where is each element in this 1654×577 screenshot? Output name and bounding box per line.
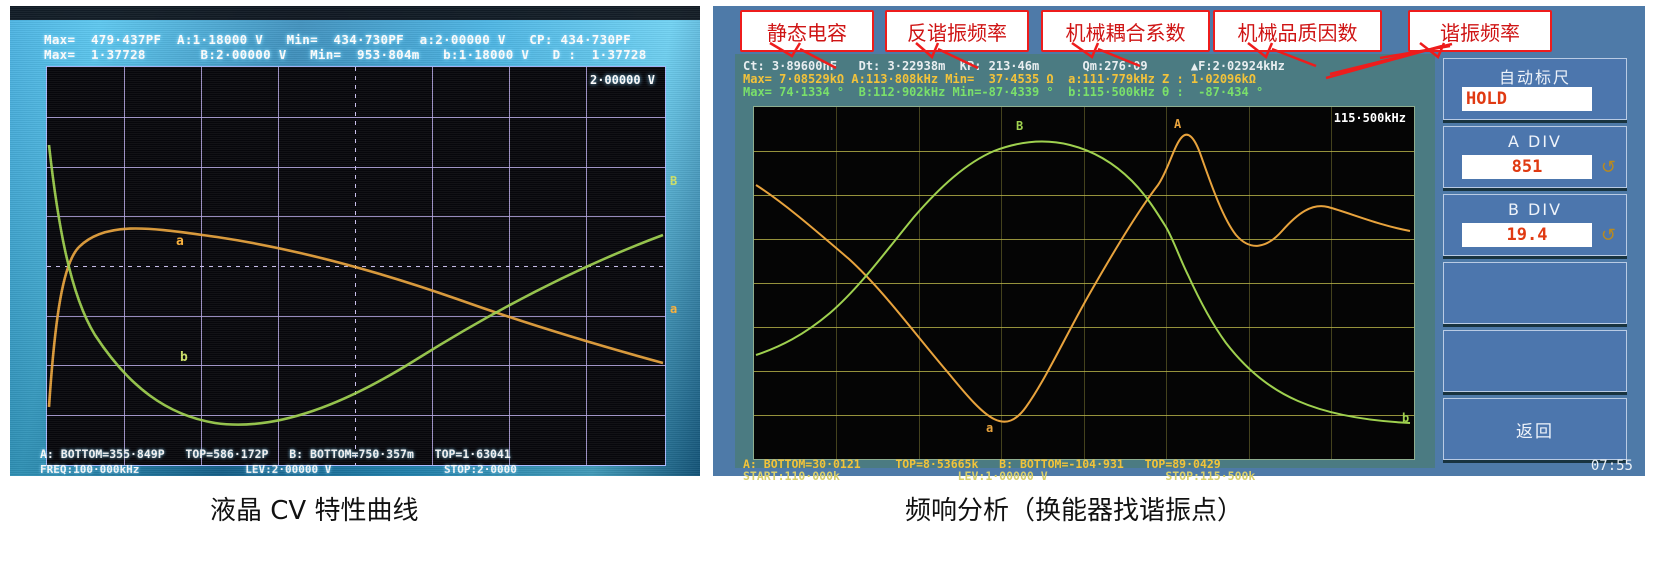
annotation-resonance-frequency-label: 谐振频率 [1440, 17, 1520, 46]
left-readout-line-1: Max= 479·437PF A:1·18000 V Min= 434·730P… [44, 32, 684, 47]
softkey-b-div-label: B DIV [1444, 200, 1626, 219]
analyzer-chassis: Ct: 3·89600nF Dt: 3·22938m KP: 213·46m Q… [713, 6, 1645, 476]
left-footer-line-1: A: BOTTOM=355·849P TOP=586·172P B: BOTTO… [40, 447, 690, 461]
softkey-back[interactable]: 返回 [1443, 398, 1627, 460]
annotation-mechanical-q-label: 机械品质因数 [1238, 17, 1358, 46]
softkey-auto-scale-label: 自动标尺 [1444, 64, 1626, 88]
analyzer-plot-area: 115·500kHz B A a b [753, 106, 1415, 460]
analyzer-marker-b-right: b [1402, 411, 1409, 425]
left-plot-area: 2·00000 V [46, 66, 666, 466]
right-analyzer-screen: Ct: 3·89600nF Dt: 3·22938m KP: 213·46m Q… [713, 6, 1645, 476]
annotation-coupling-coefficient-label: 机械耦合系数 [1066, 17, 1186, 46]
annotation-coupling-coefficient: 机械耦合系数 [1041, 10, 1210, 52]
annotation-resonance-frequency: 谐振频率 [1408, 10, 1552, 52]
softkey-empty-2[interactable] [1443, 330, 1627, 392]
softkey-a-div-value[interactable]: 851 [1462, 155, 1592, 179]
rotary-knob-icon[interactable]: ↺ [1601, 225, 1616, 246]
annotation-static-capacitance-label: 静态电容 [767, 17, 847, 46]
softkey-empty-1[interactable] [1443, 262, 1627, 324]
analyzer-footer-line-2: START:110·000k LEV:1·00000 V STOP:115·50… [743, 470, 1443, 483]
left-readout-line-2: Max= 1·37728 B:2·00000 V Min= 953·804m b… [44, 47, 684, 62]
rotary-knob-icon[interactable]: ↺ [1601, 157, 1616, 178]
analyzer-clock: 07:55 [1591, 458, 1633, 474]
left-footer-line-2: FREQ:100·000kHz LEV:2·00000 V STOP:2·000… [40, 463, 690, 476]
analyzer-marker-a-top: A [1174, 117, 1181, 131]
softkey-auto-scale-value[interactable]: HOLD [1462, 87, 1592, 111]
annotation-static-capacitance: 静态电容 [740, 10, 874, 52]
softkey-b-div[interactable]: B DIV 19.4 ↺ [1443, 194, 1627, 256]
left-marker-b-right: B [670, 174, 677, 188]
annotation-antiresonance-frequency: 反谐振频率 [885, 10, 1029, 52]
caption-left: 液晶 CV 特性曲线 [210, 490, 418, 527]
softkey-b-div-value[interactable]: 19.4 [1462, 223, 1592, 247]
analyzer-marker-b-top: B [1016, 119, 1023, 133]
softkey-column: 自动标尺 HOLD A DIV 851 ↺ B DIV 19.4 ↺ [1443, 58, 1631, 466]
left-marker-a: a [176, 234, 184, 249]
softkey-a-div[interactable]: A DIV 851 ↺ [1443, 126, 1627, 188]
analyzer-marker-a-bottom: a [986, 421, 993, 435]
softkey-auto-scale[interactable]: 自动标尺 HOLD [1443, 58, 1627, 120]
annotation-antiresonance-frequency-label: 反谐振频率 [907, 17, 1007, 46]
left-traces [47, 67, 665, 465]
softkey-back-label: 返回 [1444, 417, 1626, 442]
left-marker-a-right: a [670, 302, 677, 316]
left-lcd-photo: Max= 479·437PF A:1·18000 V Min= 434·730P… [10, 6, 700, 476]
caption-right: 频响分析（换能器找谐振点） [905, 490, 1243, 527]
screenshot-root: Max= 479·437PF A:1·18000 V Min= 434·730P… [0, 0, 1654, 577]
analyzer-traces [754, 107, 1414, 459]
annotation-mechanical-q: 机械品质因数 [1213, 10, 1382, 52]
photo-dark-edge [10, 6, 700, 20]
left-marker-b: b [180, 350, 188, 365]
softkey-a-div-label: A DIV [1444, 132, 1626, 151]
